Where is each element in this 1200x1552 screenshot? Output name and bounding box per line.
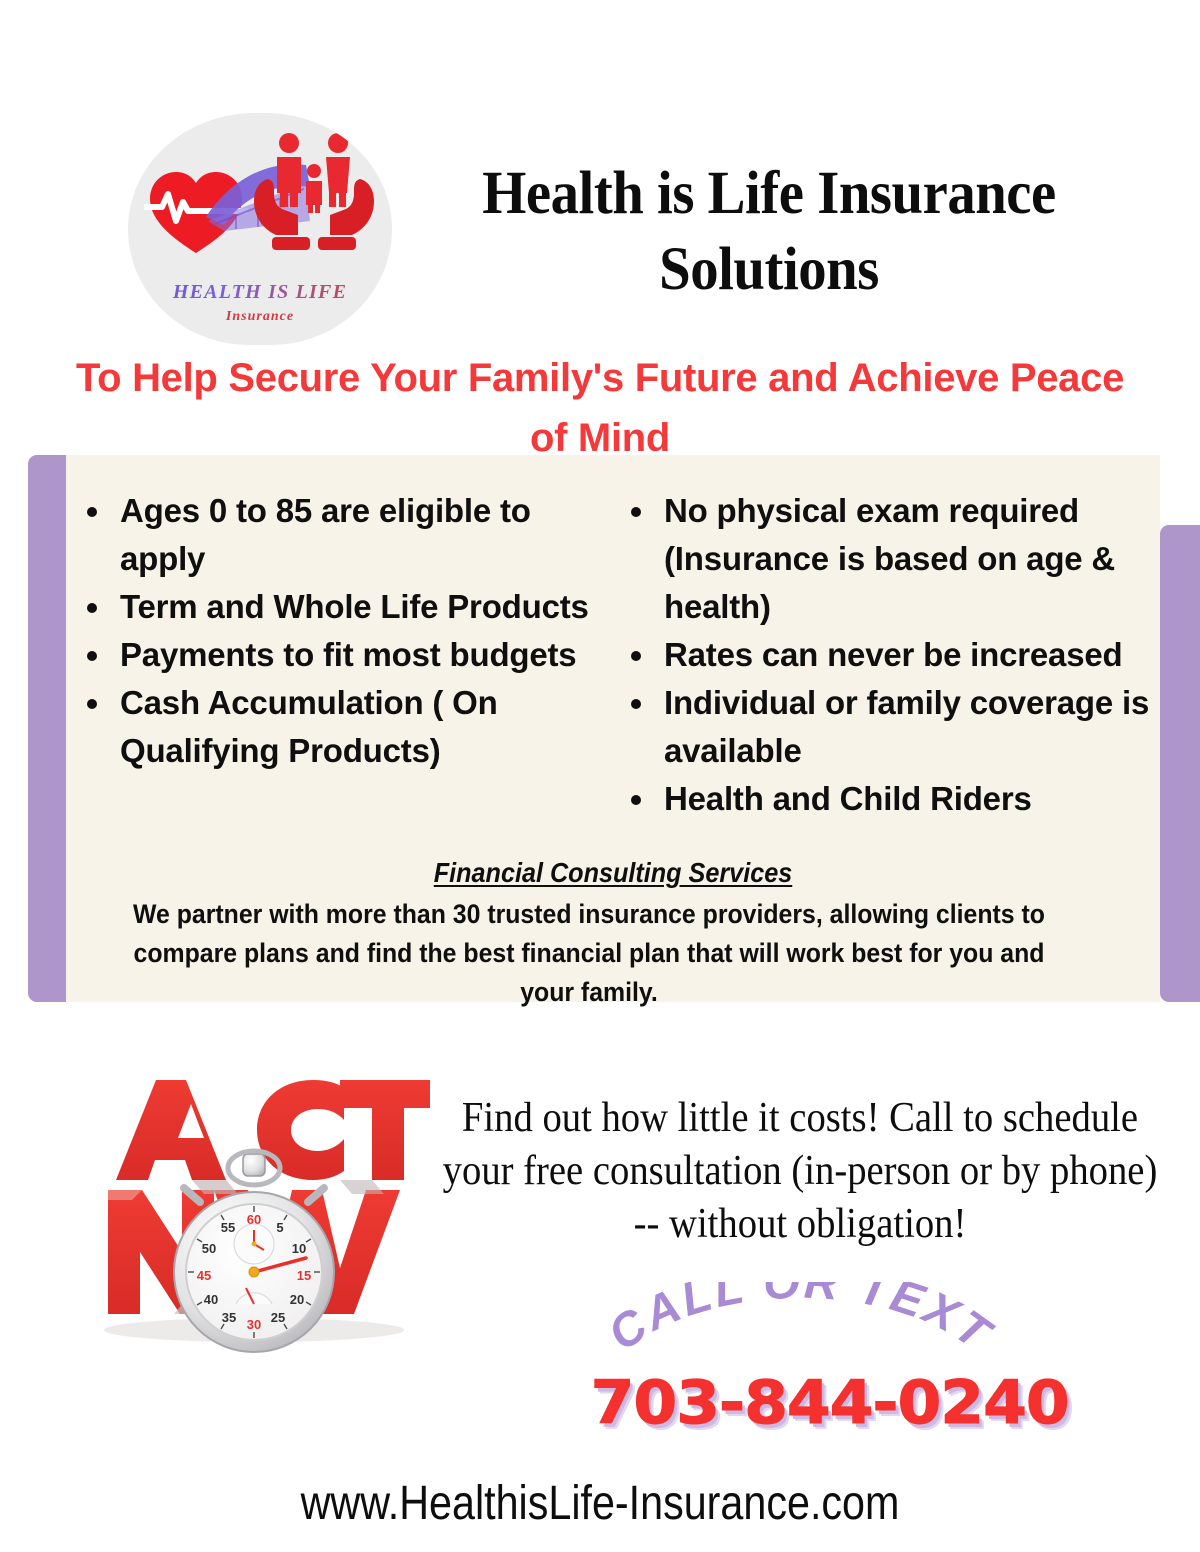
features-column-right: No physical exam required (Insurance is … — [620, 487, 1165, 823]
list-item: Rates can never be increased — [658, 631, 1165, 679]
list-item: Ages 0 to 85 are eligible to apply — [114, 487, 616, 583]
feature-list-left: Ages 0 to 85 are eligible to apply Term … — [76, 487, 616, 775]
svg-text:35: 35 — [222, 1310, 236, 1325]
features-column-left: Ages 0 to 85 are eligible to apply Term … — [76, 487, 616, 775]
page-title: Health is Life Insurance Solutions — [430, 156, 1109, 308]
list-item: Cash Accumulation ( On Qualifying Produc… — [114, 679, 616, 775]
phone-number[interactable]: 703-844-0240 — [580, 1368, 1080, 1434]
website-url[interactable]: www.HealthisLife-Insurance.com — [136, 1476, 1065, 1531]
family-icon — [277, 133, 350, 213]
list-item: Payments to fit most budgets — [114, 631, 616, 679]
phone-number-text[interactable]: 703-844-0240 — [591, 1368, 1069, 1438]
svg-text:20: 20 — [290, 1292, 304, 1307]
panel-accent-bar-right — [1160, 525, 1200, 1002]
svg-text:5: 5 — [276, 1220, 283, 1235]
feature-list-right: No physical exam required (Insurance is … — [620, 487, 1165, 823]
svg-text:55: 55 — [221, 1220, 235, 1235]
call-or-text-label: CALL OR TEXT — [598, 1282, 1003, 1361]
company-logo: HEALTH IS LIFE Insurance — [128, 113, 392, 345]
logo-subtitle-text: Insurance — [128, 309, 392, 325]
svg-text:15: 15 — [297, 1268, 311, 1283]
list-item: Health and Child Riders — [658, 775, 1165, 823]
svg-text:CALL OR TEXT: CALL OR TEXT — [598, 1282, 1003, 1361]
call-or-text-arc: CALL OR TEXT — [590, 1282, 1010, 1382]
svg-text:45: 45 — [197, 1268, 211, 1283]
financial-consulting-heading: Financial Consulting Services — [121, 857, 1106, 889]
list-item: No physical exam required (Insurance is … — [658, 487, 1165, 631]
list-item: Term and Whole Life Products — [114, 583, 616, 631]
svg-text:40: 40 — [204, 1292, 218, 1307]
svg-text:30: 30 — [247, 1317, 261, 1332]
list-item: Individual or family coverage is availab… — [658, 679, 1165, 775]
svg-text:10: 10 — [292, 1241, 306, 1256]
logo-name-text: HEALTH IS LIFE — [128, 281, 392, 304]
financial-consulting-body: We partner with more than 30 trusted ins… — [117, 895, 1061, 1012]
panel-accent-bar-left — [28, 455, 66, 1002]
act-now-graphic: 60 5 10 15 20 25 30 35 40 45 50 55 — [78, 1062, 430, 1354]
header: HEALTH IS LIFE Insurance Health is Life … — [0, 0, 1200, 340]
svg-text:25: 25 — [271, 1310, 285, 1325]
svg-text:50: 50 — [202, 1241, 216, 1256]
page-subtitle: To Help Secure Your Family's Future and … — [60, 348, 1140, 468]
call-to-action-text: Find out how little it costs! Call to sc… — [441, 1092, 1159, 1251]
